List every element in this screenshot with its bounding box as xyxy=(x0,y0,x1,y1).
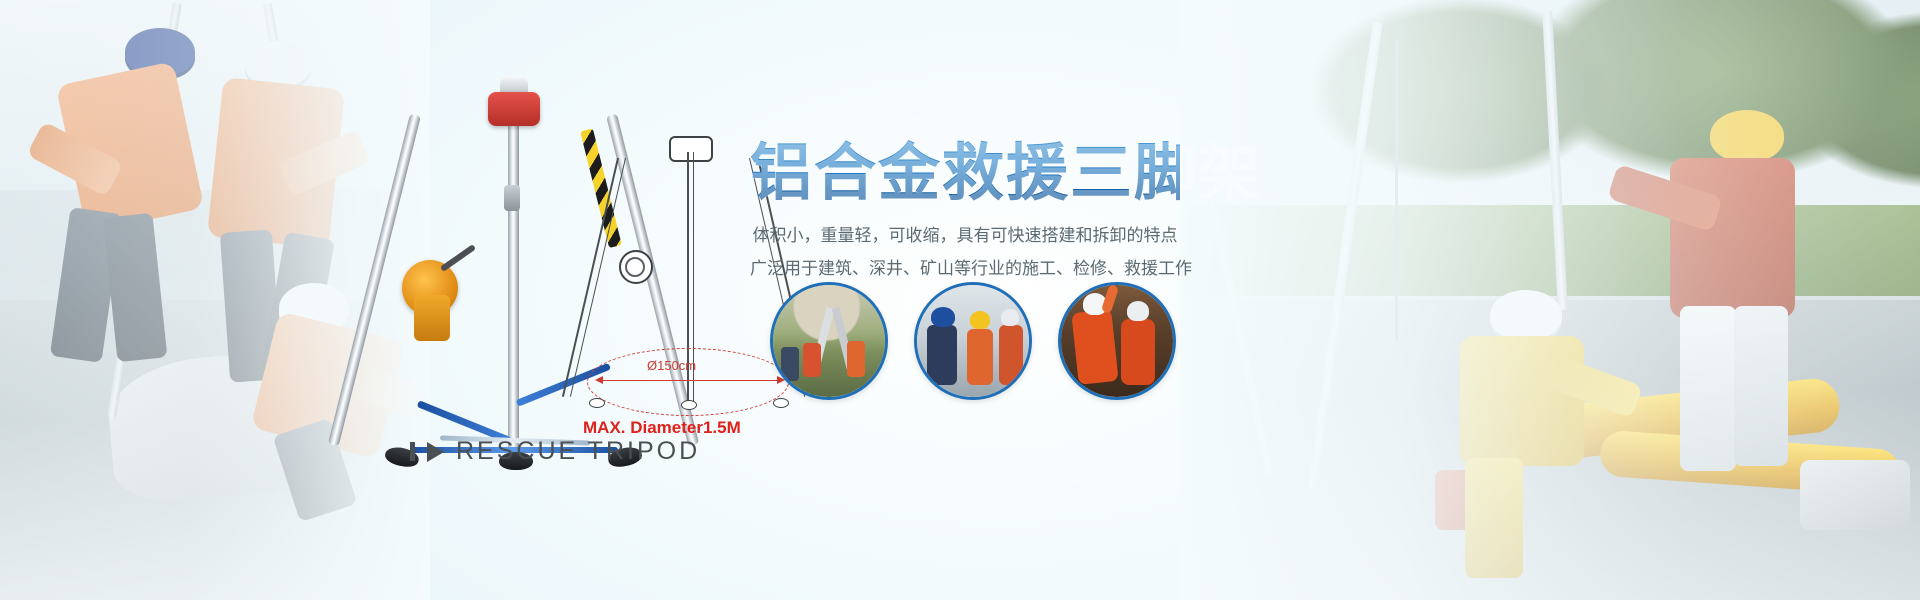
schematic-foot-left xyxy=(589,398,605,408)
scene-worker-3 xyxy=(781,347,799,381)
scene-worker-2 xyxy=(847,341,865,377)
scene-rescuer-1 xyxy=(1071,309,1118,385)
brand-caption-label: RESCUE TRIPOD xyxy=(456,437,700,466)
tripod-head-bracket xyxy=(488,92,540,126)
schematic-max-diameter-label: MAX. Diameter1.5M xyxy=(583,418,741,438)
scene-helmet-2 xyxy=(970,311,990,329)
tripod-winch-handle xyxy=(440,244,476,272)
schematic-foot-center xyxy=(681,400,697,410)
thumbnail-image xyxy=(1061,285,1173,397)
thumbnail-image xyxy=(917,285,1029,397)
play-marker-triangle-icon xyxy=(427,442,444,462)
schematic-winch-hub xyxy=(625,257,645,277)
right-photo-fade-overlay xyxy=(1180,0,1920,600)
scene-helmet-1 xyxy=(931,307,955,327)
schematic-head xyxy=(669,136,713,162)
product-banner: Ø150cm MAX. Diameter1.5M RESCUE TRIPOD 铝… xyxy=(0,0,1920,600)
scene-worker-1 xyxy=(803,343,821,377)
scene-helmet-2 xyxy=(1127,301,1149,321)
subtitle-line-1: 体积小，重量轻，可收缩，具有可快速搭建和拆卸的特点 xyxy=(750,221,1180,252)
thumbnail-gallery xyxy=(770,282,1176,400)
tripod-pulley xyxy=(504,185,520,211)
schematic-dimension-line xyxy=(597,380,783,381)
scene-worker-2 xyxy=(967,329,993,385)
scene-worker-3 xyxy=(999,325,1023,385)
thumbnail-confined-space-rescue[interactable] xyxy=(1058,282,1176,400)
scene-helmet-3 xyxy=(1001,309,1019,326)
dimension-arrow-left-icon xyxy=(595,376,603,384)
page-title: 铝合金救援三脚架 xyxy=(750,140,1180,207)
headline-block: 铝合金救援三脚架 体积小，重量轻，可收缩，具有可快速搭建和拆卸的特点 广泛用于建… xyxy=(750,140,1180,286)
scene-raised-arm xyxy=(1101,284,1119,314)
schematic-diameter-label: Ø150cm xyxy=(647,358,696,373)
thumbnail-field-rescue[interactable] xyxy=(770,282,888,400)
scene-worker-1 xyxy=(927,325,957,385)
scene-rescuer-2 xyxy=(1121,319,1155,385)
play-marker-bar-icon xyxy=(410,442,415,461)
right-photo-collage xyxy=(1180,0,1920,600)
brand-caption: RESCUE TRIPOD xyxy=(410,437,700,466)
thumbnail-image xyxy=(773,285,885,397)
thumbnail-site-inspection[interactable] xyxy=(914,282,1032,400)
tripod-winch-body xyxy=(414,295,450,341)
